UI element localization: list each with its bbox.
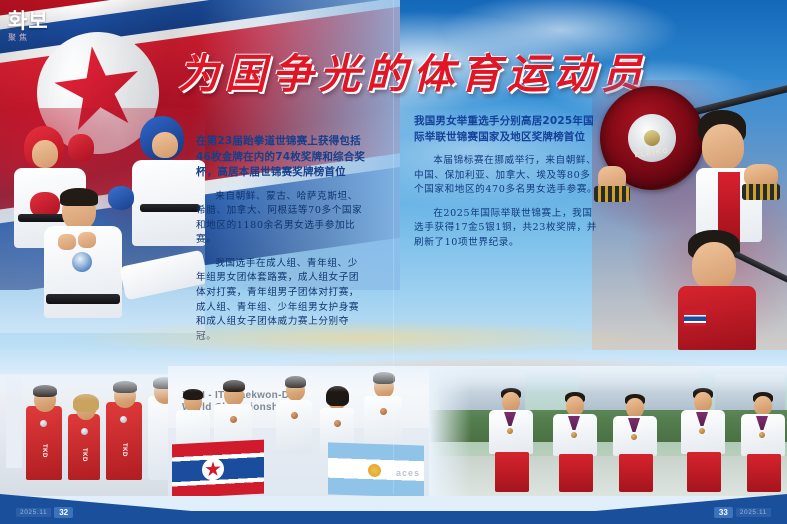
page-indicator-left: 2025.11 32 bbox=[16, 507, 73, 518]
tkd-suit-label: TKD bbox=[121, 443, 127, 457]
team-photo-top-fade bbox=[429, 366, 787, 392]
sponsor-logo-text: aces bbox=[396, 468, 420, 478]
left-body-paragraph-2: 我国选手在成人组、青年组、少年组男女团体套路赛，成人组女子团体对打赛，青年组男子… bbox=[196, 257, 368, 345]
issue-date-right: 2025.11 bbox=[736, 508, 771, 517]
left-body-paragraph-1: 来自朝鲜、蒙古、哈萨克斯坦、希腊、加拿大、阿根廷等70多个国家和地区的1180余… bbox=[196, 190, 368, 248]
photo-medal-podium: TKD TKD TKD bbox=[0, 374, 180, 496]
podium-athlete-2: TKD bbox=[68, 414, 100, 480]
argentina-sun-icon bbox=[368, 464, 381, 477]
footer: 2025.11 32 2025.11 33 bbox=[0, 494, 787, 524]
jersey-flag-patch-icon bbox=[684, 310, 706, 326]
itf-athlete-ar-1 bbox=[276, 400, 312, 454]
page-number-right: 33 bbox=[714, 507, 733, 518]
itf-chest-emblem-icon bbox=[72, 252, 92, 272]
logo-chinese-text: 聚焦 bbox=[8, 32, 72, 43]
tkd-suit-label: TKD bbox=[41, 444, 47, 458]
photo-taekwondo-action bbox=[0, 108, 205, 333]
left-lead-paragraph: 在第23届跆拳道世锦赛上获得包括46枚金牌在内的74枚奖牌和综合奖杯，高居本届世… bbox=[196, 134, 368, 181]
podium-photo-top-fade bbox=[0, 374, 180, 400]
page-gutter bbox=[393, 0, 394, 494]
right-lead-paragraph: 我国男女举重选手分别高居2025年国际举联世锦赛国家及地区奖牌榜首位 bbox=[414, 114, 600, 145]
footer-center-bar bbox=[150, 511, 637, 524]
itf-photo-top-fade bbox=[168, 366, 430, 392]
team-photo-hedge bbox=[429, 410, 787, 442]
issue-date-left: 2025.11 bbox=[16, 508, 51, 517]
left-text-column: 在第23届跆拳道世锦赛上获得包括46枚金牌在内的74枚奖牌和综合奖杯，高居本届世… bbox=[196, 134, 368, 344]
photo-weightlifting-action: ELEIKO bbox=[592, 80, 787, 350]
right-body-paragraph-2: 在2025年国际举联世锦赛上，我国选手获得17金5银1铜，共23枚奖牌，并刷新了… bbox=[414, 207, 600, 251]
tkd-suit-label: TKD bbox=[81, 448, 87, 462]
podium-athlete-3: TKD bbox=[106, 402, 142, 480]
page-number-left: 32 bbox=[54, 507, 73, 518]
podium-athlete-1: TKD bbox=[26, 406, 62, 480]
photo-national-team bbox=[429, 366, 787, 496]
magazine-spread: 화보 聚焦 为国争光的体育运动员 bbox=[0, 0, 787, 524]
logo-korean-text: 화보 bbox=[8, 11, 72, 31]
team-photo-ground bbox=[429, 456, 787, 496]
publication-logo: 화보 聚焦 bbox=[8, 11, 72, 49]
plate-core bbox=[644, 130, 660, 146]
photo-itf-championship: XXIII - ITF Taekwon-Do World Championshi… bbox=[168, 366, 430, 496]
right-text-column: 我国男女举重选手分别高居2025年国际举联世锦赛国家及地区奖牌榜首位 本届锦标赛… bbox=[414, 114, 600, 251]
north-korea-flag-held bbox=[172, 440, 264, 496]
right-body-paragraph-1: 本届锦标赛在挪威举行，来自朝鲜、中国、保加利亚、加拿大、埃及等80多个国家和地区… bbox=[414, 154, 600, 198]
page-indicator-right: 2025.11 33 bbox=[714, 507, 771, 518]
